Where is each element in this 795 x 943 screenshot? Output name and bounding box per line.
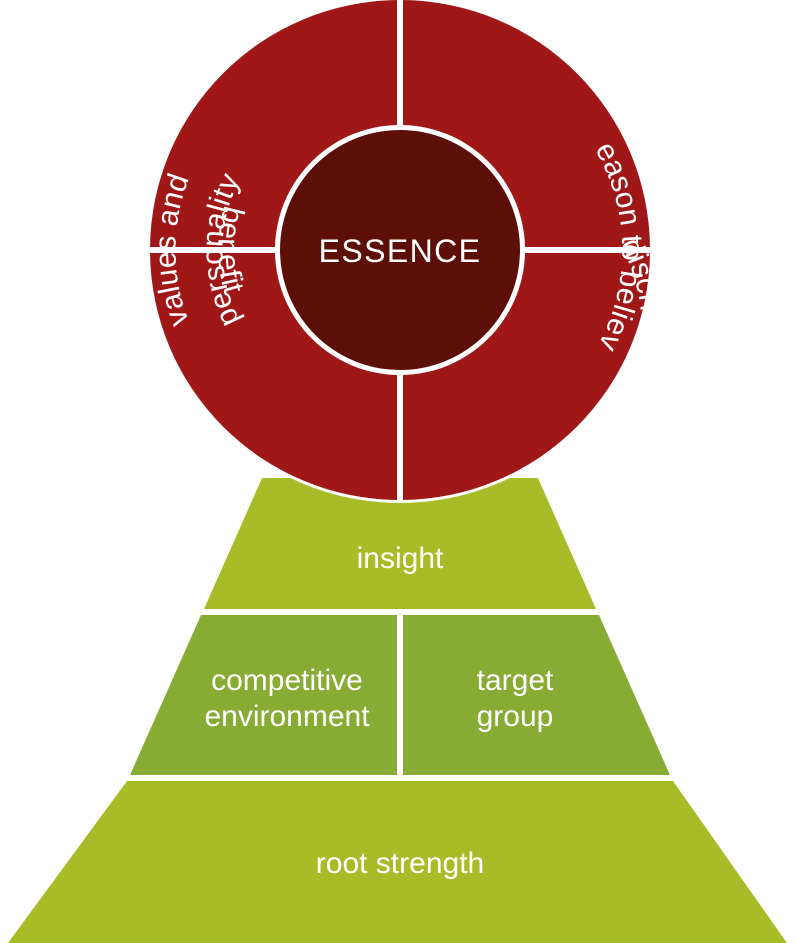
tier-label-competitive-environment-line2: environment (204, 700, 370, 733)
brand-key-diagram: ESSENCE values and personality reason to… (0, 0, 795, 943)
tier-label-insight: insight (357, 542, 444, 575)
tier-label-competitive-environment-line1: competitive (211, 664, 363, 697)
tier-label-root-strength: root strength (316, 847, 484, 880)
tier-label-target-group-line1: target (477, 664, 554, 697)
ring-label-benefit: benefit (211, 203, 250, 297)
tier-label-target-group-line2: group (477, 700, 554, 733)
circle-group: ESSENCE values and personality reason to… (0, 0, 668, 500)
diagram-canvas: ESSENCE values and personality reason to… (0, 0, 795, 943)
core-label: ESSENCE (319, 233, 482, 269)
ring-label-values-and-personality-line1: values and (149, 169, 195, 330)
